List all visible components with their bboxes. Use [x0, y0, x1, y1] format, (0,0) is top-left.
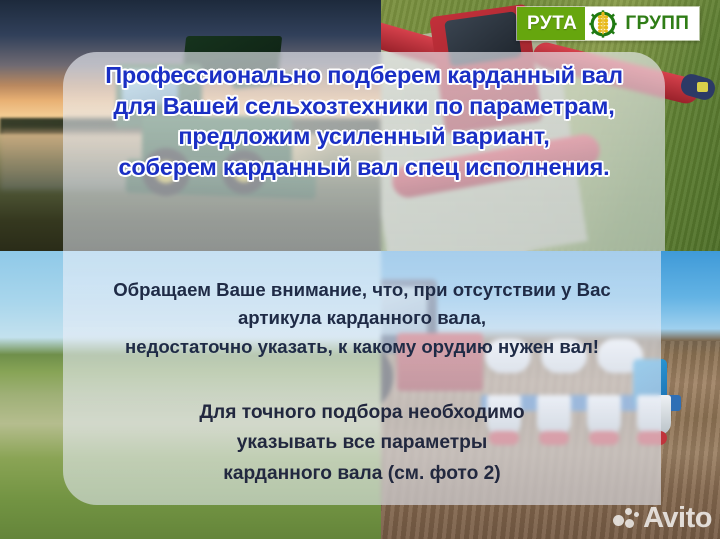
gear-wheat-icon — [585, 7, 621, 40]
mower-boom-marker — [697, 82, 708, 92]
instruction-text: Для точного подбора необходимо указывать… — [63, 398, 661, 489]
ruta-grupp-logo: РУТА — [516, 6, 700, 41]
avito-dots-icon — [613, 508, 638, 530]
headline-text: Профессионально подберем карданный вал д… — [63, 60, 665, 182]
notice-text: Обращаем Ваше внимание, что, при отсутст… — [63, 276, 661, 361]
advertisement-image: Профессионально подберем карданный вал д… — [0, 0, 720, 539]
avito-label: Avito — [643, 504, 712, 533]
avito-watermark: Avito — [613, 504, 712, 533]
logo-word-ruta: РУТА — [517, 7, 585, 40]
logo-word-grupp: ГРУПП — [621, 7, 699, 40]
